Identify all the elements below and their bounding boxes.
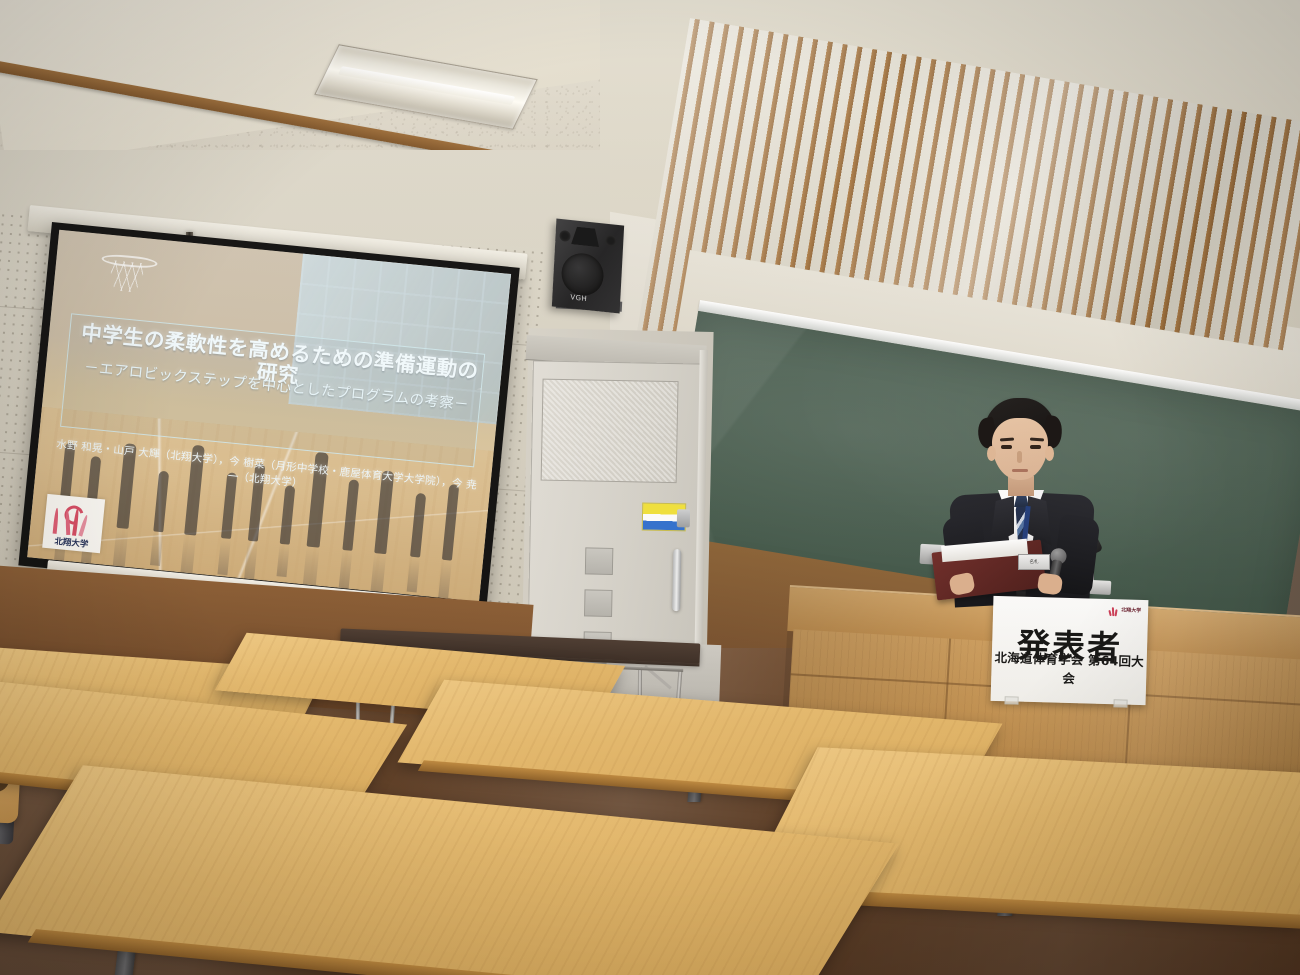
- placard-logo-text: 北翔大学: [1121, 608, 1141, 614]
- placard-sub-label: 北海道体育学会 第64回大会: [991, 647, 1147, 689]
- door-handle-icon[interactable]: [672, 549, 681, 611]
- presenter-placard: 北翔大学 発表者 北海道体育学会 第64回大会: [991, 596, 1149, 705]
- nose: [1017, 451, 1022, 463]
- basketball-hoop-icon: [99, 247, 159, 298]
- door-vent-1: [585, 547, 614, 575]
- door-vent-2: [584, 589, 613, 617]
- university-logo-mark: [52, 503, 95, 537]
- speaker-tweeter-left: [559, 230, 571, 242]
- eye-right: [1030, 445, 1041, 449]
- speaker-brand-label: VGH: [570, 293, 587, 303]
- door-frosted-glass: [541, 379, 679, 484]
- projected-slide: 中学生の柔軟性を高めるための準備運動の研究 －エアロビックステップを中心としたプ…: [27, 230, 511, 602]
- wall-speaker-icon: VGH: [552, 219, 624, 314]
- ear-right: [1045, 446, 1054, 461]
- hoop-net: [105, 260, 148, 294]
- classroom-door[interactable]: [527, 360, 705, 668]
- name-badge: 名札: [1018, 554, 1050, 570]
- speaker-woofer: [561, 251, 605, 297]
- door-lock-icon[interactable]: [677, 509, 690, 527]
- placard-university-logo: 北翔大学: [1108, 605, 1141, 617]
- placard-tape-left: [1004, 696, 1018, 704]
- mouth: [1012, 469, 1028, 472]
- lecture-room-scene: VGH: [0, 0, 1300, 975]
- speaker-tweeter-right: [605, 235, 617, 247]
- projection-screen[interactable]: 中学生の柔軟性を高めるための準備運動の研究 －エアロビックステップを中心としたプ…: [18, 222, 519, 611]
- speaker-horn: [571, 226, 600, 247]
- placard-tape-right: [1113, 699, 1127, 707]
- university-logo-text: 北翔大学: [54, 534, 89, 549]
- ear-left: [987, 446, 996, 461]
- university-logo-slide: 北翔大学: [42, 493, 105, 552]
- presenter-figure: 名札: [930, 398, 1110, 603]
- eye-left: [1001, 445, 1012, 449]
- placard-logo-mark: [1108, 605, 1119, 616]
- hand-right: [1037, 572, 1064, 595]
